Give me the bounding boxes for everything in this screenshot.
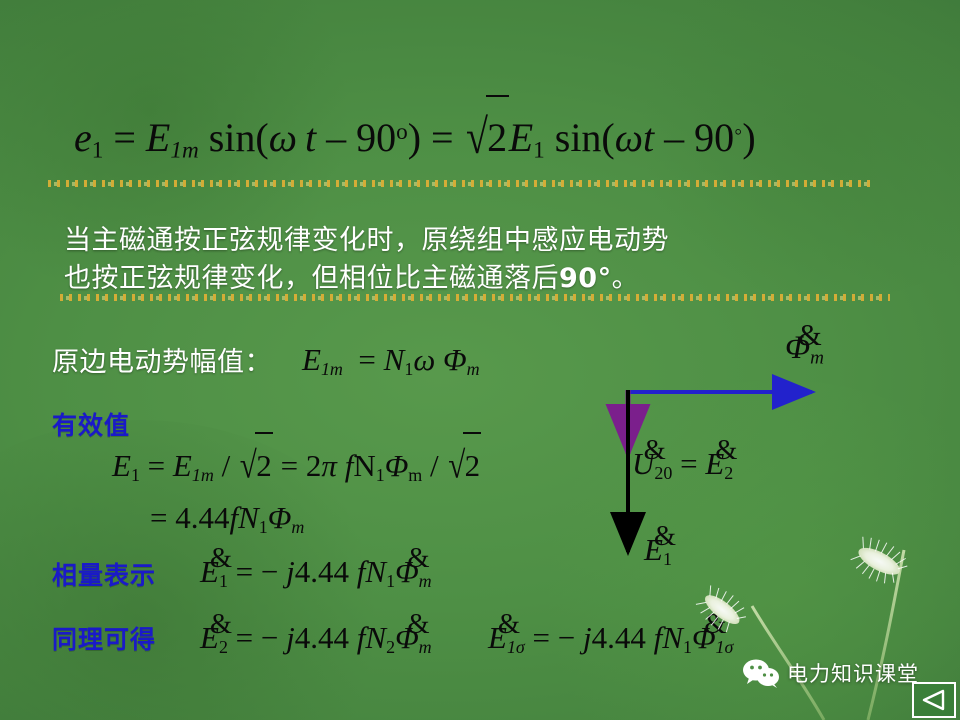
formula-term: Φ <box>385 448 409 483</box>
radicand: 2 <box>463 432 481 465</box>
formula-sub: 1 <box>683 637 692 657</box>
statement-line-2-part-d: 。 <box>612 263 640 294</box>
phasor-dot-glyph: & <box>704 611 726 640</box>
formula-term: ω <box>269 115 297 160</box>
phasor-diagram: Φ&m U&20 = E&2 E&1 <box>600 330 900 600</box>
phasor-symbol-flux: Φ& <box>692 622 716 653</box>
decorative-divider-top <box>48 178 872 189</box>
statement-line-2-part-b: 但相位比主磁通落后 <box>312 263 560 294</box>
phasor-dot-glyph: & <box>498 611 520 640</box>
statement-line-1: 当主磁通按正弦规律变化时，原绕组中感应电动势 <box>64 218 669 257</box>
formula-sub: 1σ <box>716 637 734 657</box>
square-root: √2 <box>446 448 481 481</box>
formula-operator: = <box>281 448 298 483</box>
statement-angle-value: 90° <box>559 263 612 294</box>
formula-number: 90 <box>356 115 396 160</box>
phasor-dot-glyph: & <box>798 320 822 350</box>
formula-operator: = <box>236 620 253 655</box>
phasor-symbol-e2: E& <box>200 622 219 653</box>
square-root: √2 <box>464 116 509 158</box>
heading-similarly: 同理可得 <box>52 620 156 656</box>
formula-term: E <box>509 115 533 160</box>
formula-operator: = <box>533 620 550 655</box>
formula-sub: 1 <box>533 137 545 163</box>
formula-sub: 1σ <box>507 637 525 657</box>
formula-operator: – <box>664 115 684 160</box>
formula-sub: 1 <box>404 359 413 379</box>
formula-rms-line-2: = 4.44fN1Φm <box>150 502 304 533</box>
formula-operator: − <box>558 620 575 655</box>
formula-sub: 2 <box>219 637 228 657</box>
formula-operator: = <box>236 554 253 589</box>
triangle-left-icon <box>921 689 947 711</box>
formula-sub: 1m <box>170 137 198 163</box>
formula-term: π <box>321 448 337 483</box>
formula-number: 4.44 <box>175 500 229 535</box>
formula-sub: 1 <box>131 465 140 485</box>
formula-term: t <box>305 115 316 160</box>
formula-term: ω <box>615 115 643 160</box>
formula-rms-line-1: E1 = E1m / √2 = 2π fN1Φm / √2 <box>112 448 481 481</box>
statement-line-2-part-a: 也按正弦规律变化， <box>64 263 312 294</box>
formula-term: Φ <box>268 500 292 535</box>
formula-term: E <box>173 448 192 483</box>
wechat-icon <box>742 658 780 688</box>
formula-paren: ) <box>742 115 755 160</box>
formula-sub: 2 <box>386 637 395 657</box>
phasor-symbol-flux: Φ& <box>395 622 419 653</box>
phasor-dot-glyph: & <box>210 545 232 574</box>
formula-sub: 1 <box>386 571 395 591</box>
formula-phasor-e1: E&1 = − j4.44 fN1Φ&m <box>200 556 432 587</box>
formula-term: f <box>654 620 663 655</box>
formula-number: 4.44 <box>295 554 349 589</box>
amplitude-label: 原边电动势幅值： <box>52 340 272 379</box>
formula-phasor-e2: E&2 = − j4.44 fN2Φ&m <box>200 622 432 653</box>
formula-term: f <box>229 500 238 535</box>
formula-number: 4.44 <box>295 620 349 655</box>
formula-sub: 1 <box>376 465 385 485</box>
phasor-label-voltage: U&20 = E&2 <box>632 448 733 479</box>
back-button[interactable] <box>912 682 956 718</box>
formula-function: sin( <box>555 115 615 160</box>
formula-operator: = <box>150 500 167 535</box>
slide-canvas: e1 = E1m sin(ω t – 90o) = √2E1 sin(ωt – … <box>0 0 960 720</box>
formula-sub: 1 <box>92 137 104 163</box>
watermark-label: 电力知识课堂 <box>787 658 919 688</box>
formula-term: N <box>365 620 386 655</box>
formula-term: e <box>74 115 92 160</box>
formula-term: t <box>643 115 654 160</box>
watermark: 电力知识课堂 <box>742 658 919 688</box>
formula-operator: = <box>148 448 165 483</box>
formula-term: N <box>238 500 259 535</box>
formula-term: j <box>286 554 295 589</box>
formula-sub: 1m <box>321 359 343 379</box>
phasor-symbol-e1: E& <box>200 556 219 587</box>
formula-sub: m <box>408 465 422 485</box>
formula-function: sin( <box>209 115 269 160</box>
phasor-dot-glyph: & <box>654 523 676 552</box>
formula-operator: = <box>358 342 375 377</box>
formula-number: 2 <box>306 448 322 483</box>
radicand: 2 <box>486 95 509 137</box>
formula-operator: – <box>326 115 346 160</box>
phasor-dot-glyph: & <box>210 611 232 640</box>
heading-phasor-representation: 相量表示 <box>52 556 156 592</box>
formula-degree: o <box>396 119 408 145</box>
formula-operator: / <box>222 448 231 483</box>
formula-term: j <box>286 620 295 655</box>
formula-operator: = <box>113 115 136 160</box>
formula-emf-sinusoid: e1 = E1m sin(ω t – 90o) = √2E1 sin(ωt – … <box>74 116 756 158</box>
formula-sub: m <box>419 637 432 657</box>
square-root: √2 <box>238 448 273 481</box>
formula-term: E <box>112 448 131 483</box>
formula-phasor-e1sigma: E&1σ = − j4.44 fN1Φ&1σ <box>488 622 733 653</box>
phasor-symbol-e1sigma: E& <box>488 622 507 653</box>
formula-operator: / <box>430 448 439 483</box>
formula-sub: m <box>291 517 304 537</box>
radicand: 2 <box>255 432 273 465</box>
formula-number: 4.44 <box>592 620 646 655</box>
formula-term: E <box>302 342 321 377</box>
formula-term: E <box>146 115 170 160</box>
phasor-dot-glyph: & <box>407 545 429 574</box>
formula-paren: ) <box>408 115 421 160</box>
formula-term: N <box>365 554 386 589</box>
formula-operator: = <box>431 115 454 160</box>
formula-term: ω <box>413 342 435 377</box>
formula-term: N <box>384 342 405 377</box>
phasor-label-flux: Φ&m <box>785 332 824 365</box>
phasor-dot-glyph: & <box>715 437 737 466</box>
formula-term: j <box>583 620 592 655</box>
formula-number: 90 <box>694 115 734 160</box>
formula-sub: 1 <box>259 517 268 537</box>
decorative-divider-bottom <box>60 292 890 303</box>
phasor-dot-glyph: & <box>644 437 666 466</box>
statement-line-2: 也按正弦规律变化，但相位比主磁通落后90°。 <box>64 256 639 295</box>
formula-sub: 1m <box>192 465 214 485</box>
heading-rms-value: 有效值 <box>52 406 130 442</box>
formula-term: N <box>353 448 375 483</box>
formula-sub: m <box>419 571 432 591</box>
formula-term: N <box>662 620 683 655</box>
formula-operator: − <box>261 554 278 589</box>
phasor-symbol-flux: Φ& <box>395 556 419 587</box>
formula-term: Φ <box>443 342 467 377</box>
formula-sub: m <box>467 359 480 379</box>
phasor-label-emf: E&1 <box>644 534 672 565</box>
formula-sub: 1 <box>219 571 228 591</box>
formula-emf-amplitude: E1m = N1ω Φm <box>302 344 480 375</box>
phasor-dot-glyph: & <box>407 611 429 640</box>
formula-operator: − <box>261 620 278 655</box>
